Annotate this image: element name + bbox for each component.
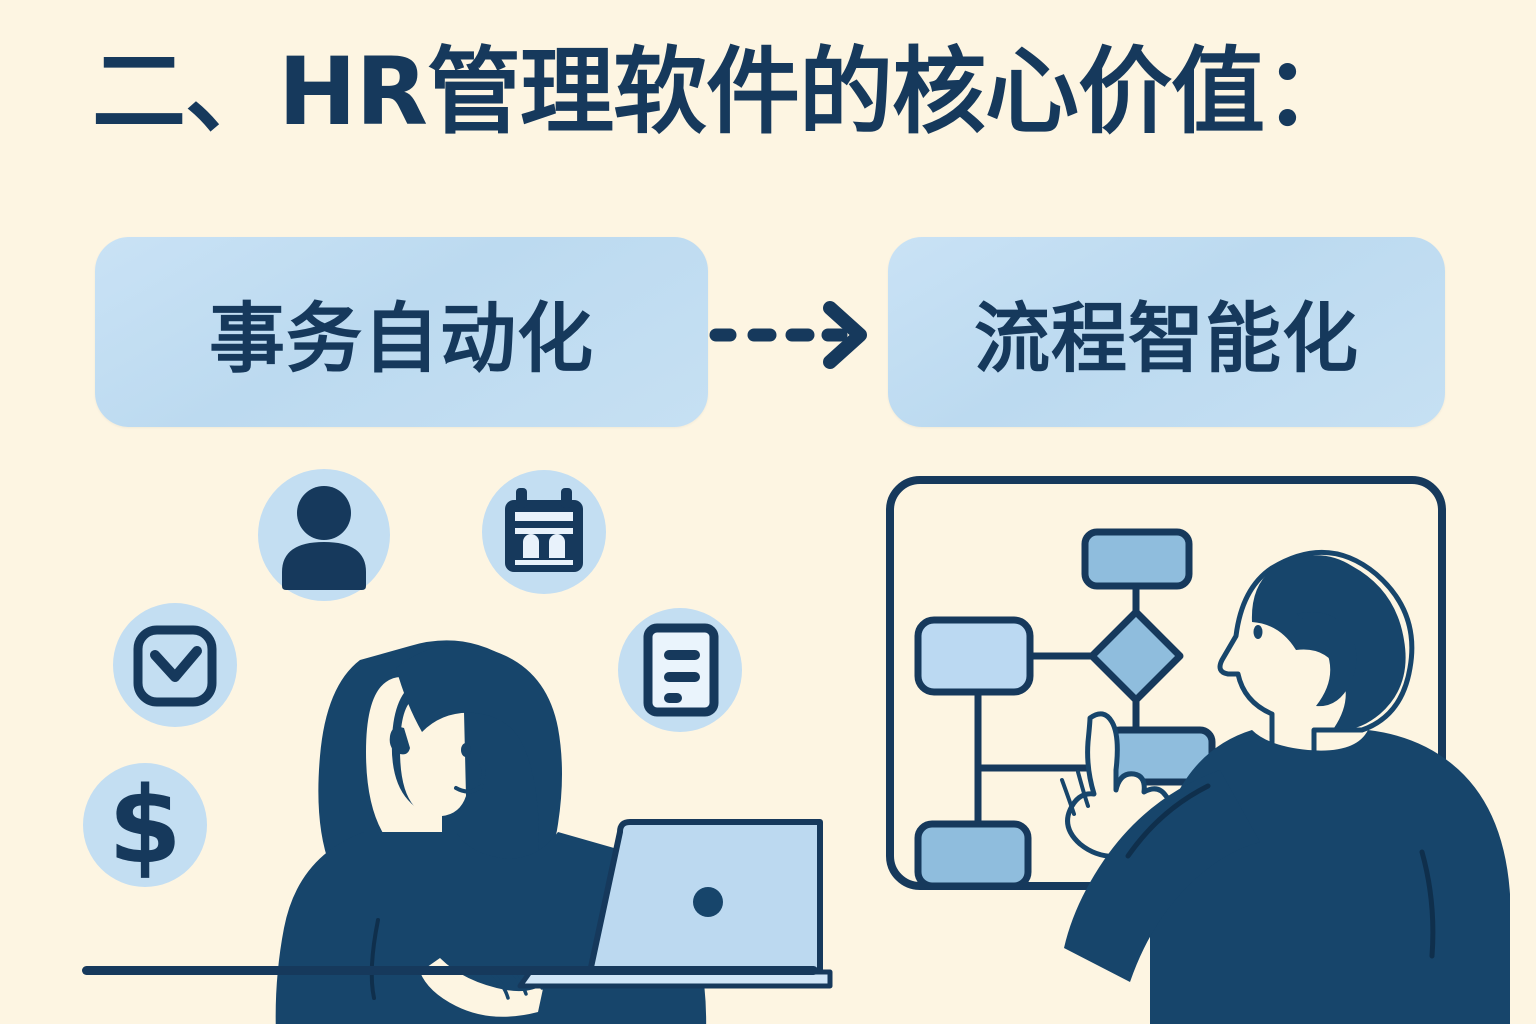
badge-left-label: 事务自动化: [209, 277, 594, 387]
flow-node-bottom: [918, 824, 1028, 886]
dashed-arrow-icon: [708, 300, 884, 370]
page-title: 二、HR管理软件的核心价值：: [92, 46, 1357, 140]
badge-process-intelligence[interactable]: 流程智能化: [888, 237, 1445, 427]
left-illustration: $: [60, 450, 820, 1024]
poster-canvas: 二、HR管理软件的核心价值： 事务自动化 流程智能化: [0, 0, 1536, 1024]
calendar-icon: [482, 470, 606, 594]
user-icon: [258, 469, 390, 601]
svg-text:$: $: [108, 764, 182, 887]
right-illustration: [860, 450, 1536, 1024]
badge-transaction-automation[interactable]: 事务自动化: [95, 237, 708, 427]
flow-node-left: [918, 620, 1030, 692]
badge-right-label: 流程智能化: [974, 277, 1359, 387]
flow-node-decision: [1092, 612, 1180, 700]
flow-node-top: [1085, 532, 1189, 586]
payroll-icon: $: [83, 763, 207, 887]
approval-icon: [113, 603, 237, 727]
document-icon: [618, 608, 742, 732]
desk-line: [82, 966, 818, 975]
